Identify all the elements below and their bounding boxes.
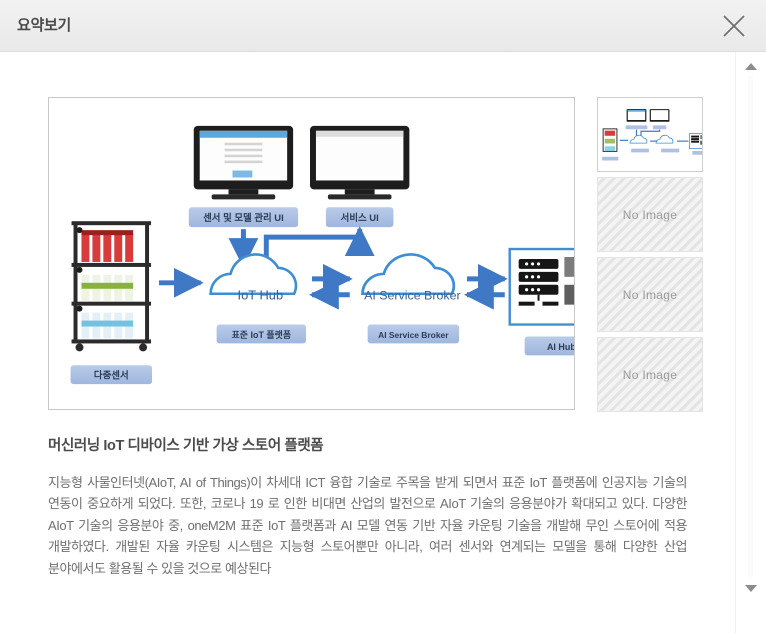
close-button[interactable] bbox=[716, 8, 752, 44]
iot-hub-label: 표준 IoT 플랫폼 bbox=[217, 325, 306, 344]
document-abstract: 지능형 사물인터넷(AIoT, AI of Things)이 차세대 ICT 융… bbox=[48, 472, 687, 580]
svg-text:AI Service Broker: AI Service Broker bbox=[378, 330, 449, 340]
thumbnail-placeholder-3[interactable]: No Image bbox=[597, 337, 703, 412]
ai-hub-label: AI Hub bbox=[525, 336, 574, 355]
svg-text:센서 및 모델 관리 UI: 센서 및 모델 관리 UI bbox=[203, 212, 284, 223]
modal-body: 다중센서 bbox=[0, 52, 766, 633]
thumbnail-diagram-preview bbox=[598, 98, 702, 171]
svg-text:AI Hub: AI Hub bbox=[547, 342, 574, 352]
main-figure[interactable]: 다중센서 bbox=[48, 97, 575, 410]
admin-ui-label: 센서 및 모델 관리 UI bbox=[189, 207, 298, 227]
page-title: 요약보기 bbox=[17, 14, 71, 35]
no-image-label: No Image bbox=[598, 208, 702, 222]
svg-text:서비스 UI: 서비스 UI bbox=[341, 212, 379, 223]
text-block: 머신러닝 IoT 디바이스 기반 가상 스토어 플랫폼 지능형 사물인터넷(AI… bbox=[48, 437, 687, 579]
content-pane: 다중센서 bbox=[0, 52, 735, 633]
media-row: 다중센서 bbox=[0, 97, 735, 415]
sensor-rack-label: 다중센서 bbox=[71, 365, 152, 384]
summary-modal: 요약보기 bbox=[0, 0, 766, 633]
admin-monitor-graphic bbox=[194, 126, 293, 200]
ai-service-broker-cloud: AI Service Broker bbox=[363, 254, 461, 302]
thumbnail-diagram[interactable] bbox=[597, 97, 703, 172]
sensor-rack-graphic bbox=[72, 221, 151, 351]
svg-text:AI Service Broker: AI Service Broker bbox=[364, 289, 461, 303]
vertical-scrollbar[interactable] bbox=[735, 52, 766, 633]
document-title: 머신러닝 IoT 디바이스 기반 가상 스토어 플랫폼 bbox=[48, 437, 687, 456]
thumbnail-placeholder-1[interactable]: No Image bbox=[597, 177, 703, 252]
scroll-track[interactable] bbox=[748, 76, 753, 577]
triangle-down-icon bbox=[745, 585, 757, 592]
ai-service-broker-label: AI Service Broker bbox=[368, 325, 459, 344]
iot-hub-cloud: IoT Hub bbox=[211, 254, 296, 302]
scroll-up-button[interactable] bbox=[736, 57, 766, 75]
thumbnail-column: No Image No Image No Image bbox=[597, 97, 703, 417]
service-monitor-graphic bbox=[310, 126, 409, 200]
ai-hub-graphic bbox=[510, 249, 574, 325]
triangle-up-icon bbox=[745, 63, 757, 70]
thumbnail-placeholder-2[interactable]: No Image bbox=[597, 257, 703, 332]
svg-text:다중센서: 다중센서 bbox=[94, 370, 129, 381]
no-image-label: No Image bbox=[598, 368, 702, 382]
service-ui-label: 서비스 UI bbox=[326, 207, 394, 227]
scroll-down-button[interactable] bbox=[736, 579, 766, 597]
no-image-label: No Image bbox=[598, 288, 702, 302]
close-icon bbox=[716, 13, 752, 39]
modal-header: 요약보기 bbox=[0, 0, 766, 52]
svg-text:IoT Hub: IoT Hub bbox=[237, 288, 283, 303]
svg-text:표준 IoT 플랫폼: 표준 IoT 플랫폼 bbox=[232, 329, 291, 340]
